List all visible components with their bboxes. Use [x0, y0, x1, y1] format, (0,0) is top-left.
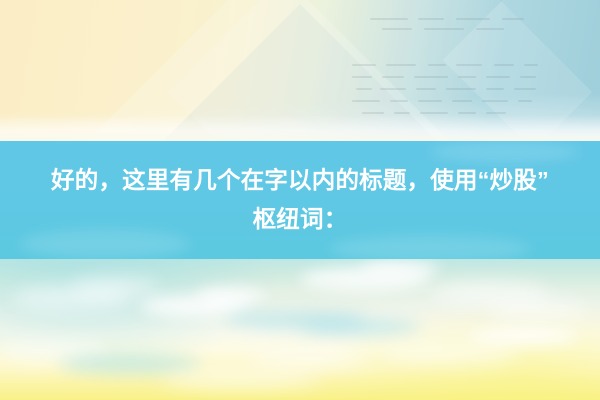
- watermark-text-line: [424, 28, 464, 30]
- cloud-shape: [250, 351, 370, 367]
- watermark-text-line: [458, 76, 476, 78]
- watermark-text-line: [514, 88, 536, 90]
- top-decorative-panel: [0, 0, 600, 141]
- cloud-shape: [468, 327, 578, 345]
- watermark-text-line: [382, 76, 404, 78]
- watermark-text-line: [446, 88, 476, 90]
- watermark-text-line: [390, 100, 408, 102]
- watermark-text-line: [420, 112, 448, 114]
- watermark-text-line: [428, 64, 446, 66]
- watermark-text-line: [486, 76, 510, 78]
- cloud-shape: [300, 319, 420, 335]
- watermark-text-line: [416, 88, 436, 90]
- cloud-shape: [380, 343, 520, 363]
- watermark-text-line: [518, 100, 532, 102]
- watermark-text-line: [386, 64, 416, 66]
- watermark-text-line: [456, 64, 482, 66]
- watermark-text-line: [352, 100, 380, 102]
- watermark-text-line: [486, 88, 504, 90]
- watermark-text-line: [482, 100, 508, 102]
- banner-title-line-1: 好的，这里有几个在字以内的标题，使用“炒股”: [51, 161, 549, 200]
- watermark-text-line: [394, 112, 410, 114]
- watermark-text-line: [418, 18, 444, 20]
- watermark-text-line: [494, 64, 514, 66]
- watermark-text-line: [352, 76, 372, 78]
- watermark-text-line: [362, 112, 384, 114]
- watermark-text-line: [452, 100, 472, 102]
- watermark-text-line: [418, 100, 442, 102]
- watermark-text-line: [370, 18, 408, 20]
- title-banner: 好的，这里有几个在字以内的标题，使用“炒股” 枢纽词：: [0, 141, 600, 259]
- banner-cloud-shape: [430, 141, 580, 163]
- watermark-text-line: [476, 28, 504, 30]
- banner-cloud-shape: [20, 229, 190, 259]
- banner-title-line-2: 枢纽词：: [253, 200, 348, 239]
- watermark-text-line: [524, 64, 538, 66]
- panel-haze-overlay: [0, 115, 600, 141]
- cloud-shape: [70, 277, 160, 297]
- watermark-text-line: [458, 112, 476, 114]
- watermark-text-line: [456, 18, 490, 20]
- watermark-text-line: [520, 76, 536, 78]
- cloud-shape: [160, 371, 320, 389]
- cloud-shape: [60, 355, 200, 373]
- cloud-shape: [360, 261, 440, 277]
- header-image: 好的，这里有几个在字以内的标题，使用“炒股” 枢纽词：: [0, 0, 600, 400]
- sky-gradient-panel: [0, 259, 600, 400]
- cloud-shape: [488, 299, 588, 321]
- watermark-text-line: [380, 88, 406, 90]
- watermark-text-line: [414, 76, 448, 78]
- watermark-text-line: [502, 18, 524, 20]
- watermark-text-line: [352, 64, 376, 66]
- watermark-text-line: [382, 28, 412, 30]
- watermark-text-line: [486, 112, 506, 114]
- cloud-shape: [196, 287, 266, 305]
- watermark-text-line: [356, 88, 372, 90]
